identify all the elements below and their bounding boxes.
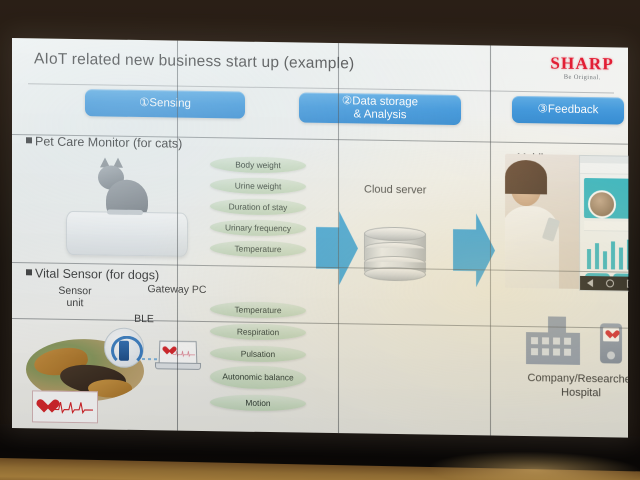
sensor-unit-body xyxy=(119,341,129,361)
bullet-square-icon xyxy=(26,137,32,143)
stage-button-data-storage[interactable]: ②Data storage & Analysis xyxy=(299,93,461,126)
vital-device-icon xyxy=(600,323,622,363)
laptop-base xyxy=(155,362,201,370)
device-button xyxy=(607,351,615,359)
vital-heading-text: Vital Sensor (for dogs) xyxy=(35,266,159,282)
metric-oval: Respiration xyxy=(210,323,306,341)
flow-arrow-to-feedback-icon xyxy=(453,213,495,288)
device-heart-icon xyxy=(606,330,615,338)
recents-icon[interactable] xyxy=(627,280,628,288)
bullet-square-icon xyxy=(26,269,32,275)
laptop-heart-icon xyxy=(163,346,172,354)
phone-app-header xyxy=(580,163,628,175)
panel-seam xyxy=(338,43,339,433)
company-hospital-label: Company/Researcher Hospital xyxy=(510,371,628,401)
sharp-logo: SHARP Be Original. xyxy=(550,54,614,81)
metric-oval: Motion xyxy=(210,394,306,412)
sharp-wordmark: SHARP xyxy=(550,54,614,72)
floor-light-glow xyxy=(430,450,640,480)
presentation-screen: AIoT related new business start up (exam… xyxy=(12,38,628,438)
metric-oval: Urine weight xyxy=(210,177,306,195)
metric-oval: Urinary frequency xyxy=(210,219,306,237)
metric-oval: Pulsation xyxy=(210,345,306,363)
panel-seam xyxy=(490,46,491,436)
ecg-readout-card xyxy=(32,390,98,423)
pet-avatar xyxy=(588,190,616,218)
stage-button-sensing[interactable]: ①Sensing xyxy=(85,89,245,119)
litter-box-device xyxy=(66,211,188,257)
stage-button-feedback[interactable]: ③Feedback xyxy=(512,96,624,125)
home-icon[interactable] xyxy=(606,279,614,287)
metric-oval: Temperature xyxy=(210,301,306,319)
device-screen xyxy=(603,327,619,341)
stage-2-label-line1: ②Data storage xyxy=(342,95,418,109)
stage-2-label-line2: & Analysis xyxy=(342,108,418,122)
sensor-unit-label: Sensor unit xyxy=(44,285,106,310)
hospital-building-icon xyxy=(522,316,584,369)
metric-oval: Body weight xyxy=(210,156,306,174)
cloud-server-label: Cloud server xyxy=(364,184,426,197)
stage-1-label: ①Sensing xyxy=(139,97,191,111)
section-heading-vital-sensor: Vital Sensor (for dogs) xyxy=(26,266,159,282)
sensor-harness-icon xyxy=(104,327,144,368)
metric-oval: Autonomic balance xyxy=(210,365,306,390)
cloud-server-database-icon xyxy=(364,227,424,280)
panel-seam xyxy=(177,41,178,431)
app-bar-chart xyxy=(585,235,628,270)
stage-3-label: ③Feedback xyxy=(538,103,599,117)
woman-with-phone-photo xyxy=(505,154,581,289)
sharp-tagline: Be Original. xyxy=(550,73,614,81)
heart-icon xyxy=(37,399,52,413)
phone-tab-bar[interactable] xyxy=(584,221,628,232)
android-nav-bar[interactable] xyxy=(580,276,628,291)
slide-title: AIoT related new business start up (exam… xyxy=(34,50,354,73)
pet-profile-card xyxy=(584,178,628,219)
woman-hair xyxy=(505,160,547,195)
flow-arrow-to-cloud-icon xyxy=(316,211,358,286)
building-tower xyxy=(548,316,566,332)
metric-oval: Duration of stay xyxy=(210,198,306,216)
photo-of-projected-slide: AIoT related new business start up (exam… xyxy=(0,0,640,480)
ecg-waveform-icon xyxy=(54,399,93,416)
cat-litter-monitor-photo xyxy=(42,150,202,265)
metric-oval: Temperature xyxy=(210,240,306,258)
back-icon[interactable] xyxy=(587,279,593,287)
